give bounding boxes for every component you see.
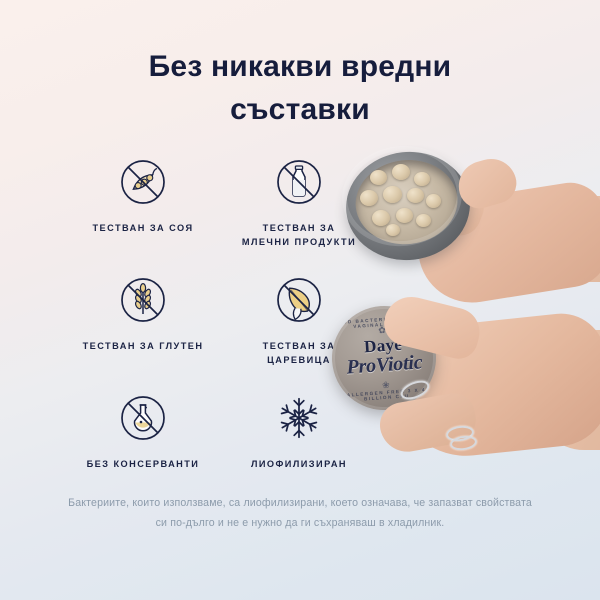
badge-preservatives: БЕЗ КОНСЕРВАНТИ bbox=[64, 388, 222, 471]
badge-corn: ТЕСТВАН ЗА ЦАРЕВИЦА bbox=[220, 270, 378, 368]
no-dairy-icon bbox=[269, 152, 329, 212]
badge-label: БЕЗ КОНСЕРВАНТИ bbox=[87, 457, 200, 471]
badge-row: ТЕСТВАН ЗА ГЛУТЕН ТЕСТВАН ЗА ЦАРЕВИЦА bbox=[58, 270, 378, 388]
finger-ring bbox=[449, 434, 478, 452]
badge-freeze-dried: ЛИОФИЛИЗИРАН bbox=[220, 388, 378, 471]
badge-dairy: ТЕСТВАН ЗА МЛЕЧНИ ПРОДУКТИ bbox=[220, 152, 378, 250]
page-title-line-2: съставки bbox=[230, 93, 370, 126]
badge-soy: ТЕСТВАН ЗА СОЯ bbox=[64, 152, 222, 235]
upper-hand-palm bbox=[411, 178, 600, 310]
badge-label: ТЕСТВАН ЗА МЛЕЧНИ ПРОДУКТИ bbox=[242, 221, 356, 250]
upper-hand-wrist bbox=[540, 196, 600, 282]
finger-ring bbox=[398, 377, 432, 403]
badge-grid: ТЕСТВАН ЗА СОЯ ТЕСТВАН ЗА МЛЕЧНИ ПРОДУКТ… bbox=[58, 152, 378, 488]
lower-hand-finger bbox=[376, 390, 479, 456]
promo-page: Без никакви вредни съставки bbox=[0, 0, 600, 600]
page-title: Без никакви вредни съставки bbox=[0, 46, 600, 131]
badge-row: БЕЗ КОНСЕРВАНТИ bbox=[58, 388, 378, 488]
no-preservatives-flask-icon bbox=[113, 388, 173, 448]
page-title-line-1: Без никакви вредни bbox=[149, 50, 452, 83]
snowflake-icon bbox=[269, 388, 329, 448]
lower-hand-palm bbox=[390, 309, 600, 462]
upper-hand-thumb bbox=[405, 166, 491, 241]
lower-hand-thumb bbox=[379, 291, 484, 363]
no-corn-icon bbox=[269, 270, 329, 330]
no-soy-icon bbox=[113, 152, 173, 212]
footer-description: Бактериите, които използваме, са лиофили… bbox=[65, 494, 535, 533]
badge-label: ТЕСТВАН ЗА ЦАРЕВИЦА bbox=[263, 339, 336, 368]
upper-hand-finger bbox=[453, 153, 521, 213]
no-gluten-icon bbox=[113, 270, 173, 330]
badge-label: ТЕСТВАН ЗА ГЛУТЕН bbox=[83, 339, 204, 353]
lower-hand-wrist bbox=[536, 330, 600, 450]
product-photography: GOOD BACTERIA FOR YOUR VAGINAL FLORA ✿ D… bbox=[340, 130, 600, 490]
finger-ring bbox=[445, 424, 475, 443]
badge-label: ТЕСТВАН ЗА СОЯ bbox=[92, 221, 193, 235]
badge-gluten: ТЕСТВАН ЗА ГЛУТЕН bbox=[64, 270, 222, 353]
badge-row: ТЕСТВАН ЗА СОЯ ТЕСТВАН ЗА МЛЕЧНИ ПРОДУКТ… bbox=[58, 152, 378, 270]
badge-label: ЛИОФИЛИЗИРАН bbox=[251, 457, 347, 471]
